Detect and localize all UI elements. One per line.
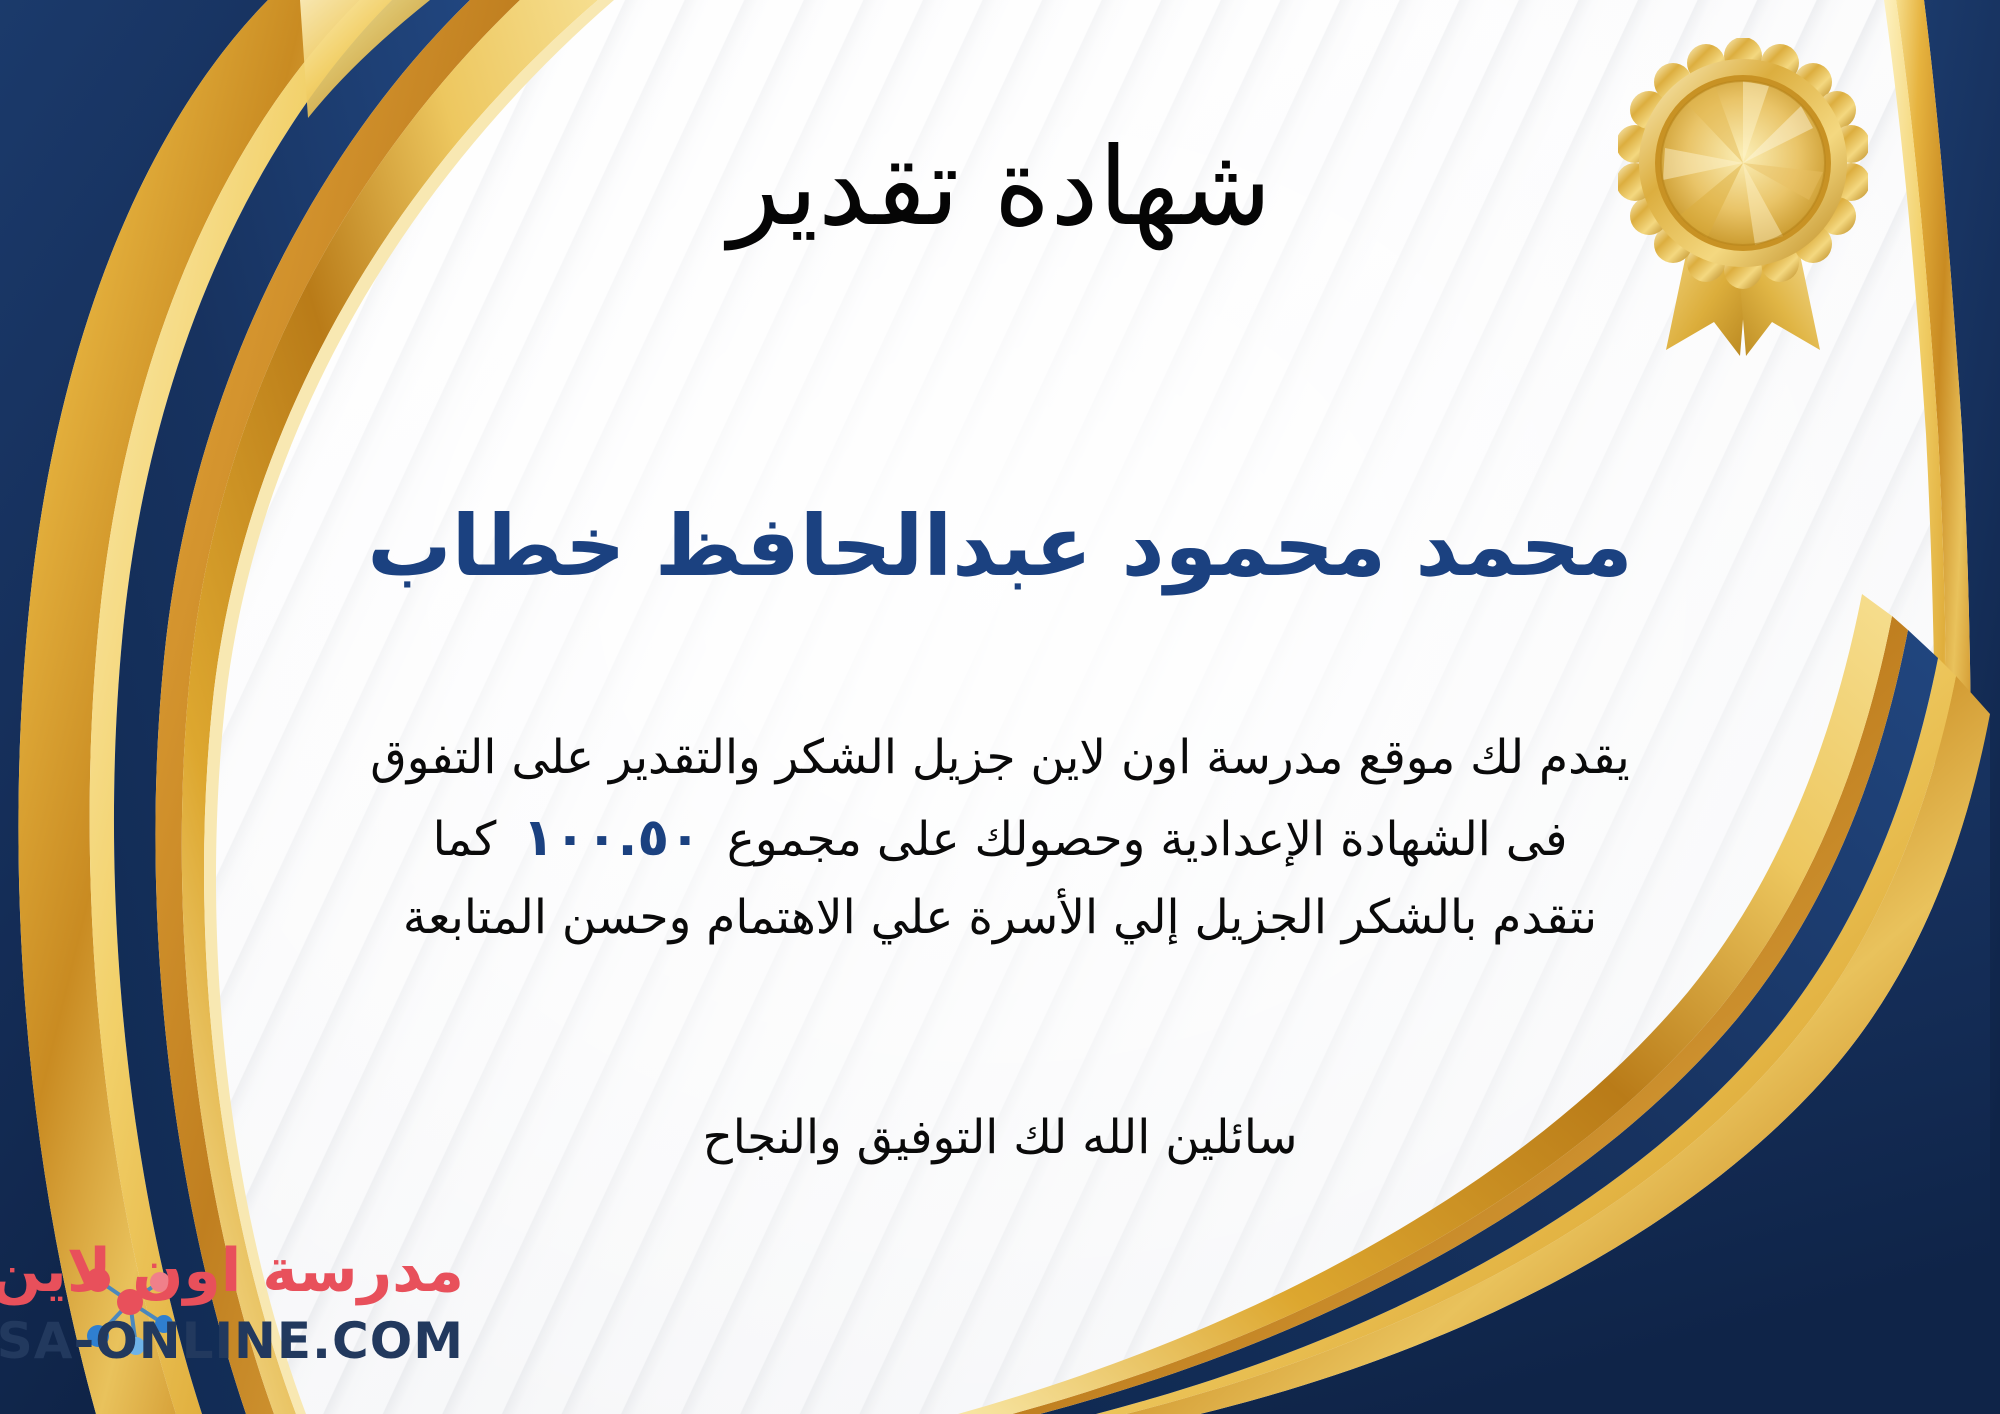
certificate-canvas: شهادة تقدير محمد محمود عبدالحافظ خطاب يق…	[0, 0, 2000, 1414]
closing-line: سائلين الله لك التوفيق والنجاح	[0, 1110, 2000, 1165]
recipient-name: محمد محمود عبدالحافظ خطاب	[120, 500, 1880, 592]
body-line-3: نتقدم بالشكر الجزيل إلي الأسرة علي الاهت…	[60, 880, 1940, 956]
logo-english-text: MADRSA-ONLINE.COM	[0, 1312, 464, 1370]
page-title: شهادة تقدير	[0, 130, 2000, 247]
score-value: ١٠٠.٥٠	[496, 808, 726, 868]
body-line-2-suffix: كما	[433, 812, 497, 867]
body-line-1: يقدم لك موقع مدرسة اون لاين جزيل الشكر و…	[60, 720, 1940, 796]
body-line-2: فى الشهادة الإعدادية وحصولك على مجموع١٠٠…	[60, 796, 1940, 880]
certificate-content: شهادة تقدير محمد محمود عبدالحافظ خطاب يق…	[0, 0, 2000, 1414]
body-line-2-prefix: فى الشهادة الإعدادية وحصولك على مجموع	[727, 812, 1568, 867]
site-logo[interactable]: مدرسة اون لاين MADRSA-ONLINE.COM	[34, 1236, 554, 1386]
logo-arabic-text: مدرسة اون لاين	[0, 1236, 464, 1306]
body-text-block: يقدم لك موقع مدرسة اون لاين جزيل الشكر و…	[60, 720, 1940, 956]
